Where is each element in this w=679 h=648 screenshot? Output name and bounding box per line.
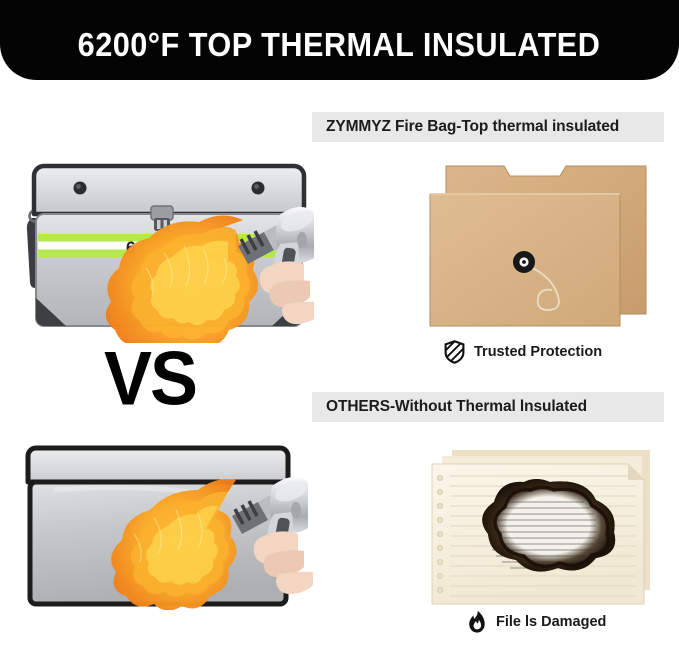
- header-banner: 6200°F TOP THERMAL INSULATED: [0, 0, 679, 80]
- result-image-intact-envelope: [424, 158, 664, 333]
- shield-icon: [444, 340, 465, 364]
- caption-file-damaged-text: File ls Damaged: [496, 614, 606, 630]
- result-image-burned-document: [424, 440, 664, 612]
- product-image-fire-bag-plain: [14, 438, 314, 610]
- caption-file-damaged: File ls Damaged: [466, 610, 606, 634]
- label-chip-bad: OTHERS-Without Thermal lnsulated: [312, 392, 664, 422]
- label-chip-bad-text: OTHERS-Without Thermal lnsulated: [326, 398, 587, 416]
- caption-trusted-protection-text: Trusted Protection: [474, 344, 602, 360]
- banner-title: 6200°F TOP THERMAL INSULATED: [78, 26, 601, 80]
- vs-label: VS: [104, 336, 196, 423]
- caption-trusted-protection: Trusted Protection: [444, 340, 602, 364]
- label-chip-good: ZYMMYZ Fire Bag-Top thermal insulated: [312, 112, 664, 142]
- plain-bag-flap: [28, 448, 288, 482]
- flame-icon: [466, 610, 487, 634]
- product-image-fire-bag-insulated: 6: [14, 158, 314, 343]
- infographic-canvas: 6200°F TOP THERMAL INSULATED ZYMMYZ Fire…: [0, 0, 679, 648]
- paper-punch-holes: [437, 475, 442, 592]
- label-chip-good-text: ZYMMYZ Fire Bag-Top thermal insulated: [326, 118, 619, 136]
